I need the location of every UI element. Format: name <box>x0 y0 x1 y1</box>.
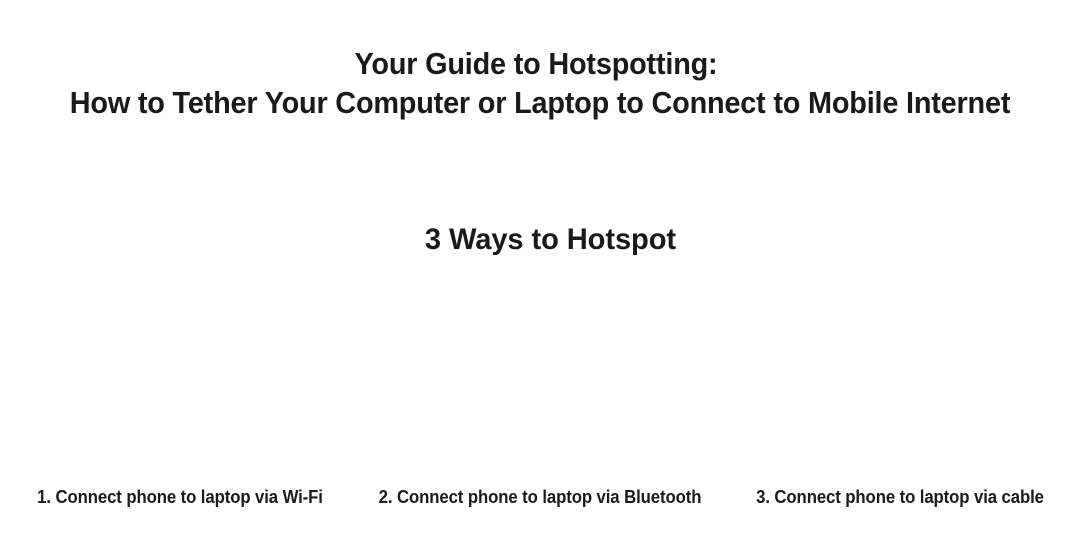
illustration-band <box>0 278 1080 476</box>
method-caption-cable: 3. Connect phone to laptop via cable <box>733 486 1068 508</box>
section-heading-label: 3 Ways to Hotspot <box>424 223 675 257</box>
page-title-line-1: Your Guide to Hotspotting: <box>30 44 1042 83</box>
method-caption-bluetooth: 2. Connect phone to laptop via Bluetooth <box>373 486 708 508</box>
page-title: Your Guide to Hotspotting: How to Tether… <box>0 44 1080 122</box>
infographic-page: Your Guide to Hotspotting: How to Tether… <box>0 0 1080 552</box>
method-caption-wifi: 1. Connect phone to laptop via Wi-Fi <box>13 486 348 508</box>
illustration-slot-bluetooth <box>360 278 720 476</box>
section-heading: 3 Ways to Hotspot <box>0 223 1080 257</box>
page-title-line-2: How to Tether Your Computer or Laptop to… <box>38 83 1042 122</box>
illustration-slot-cable <box>720 278 1080 476</box>
method-caption-row: 1. Connect phone to laptop via Wi-Fi 2. … <box>0 486 1080 514</box>
illustration-slot-wifi <box>0 278 360 476</box>
